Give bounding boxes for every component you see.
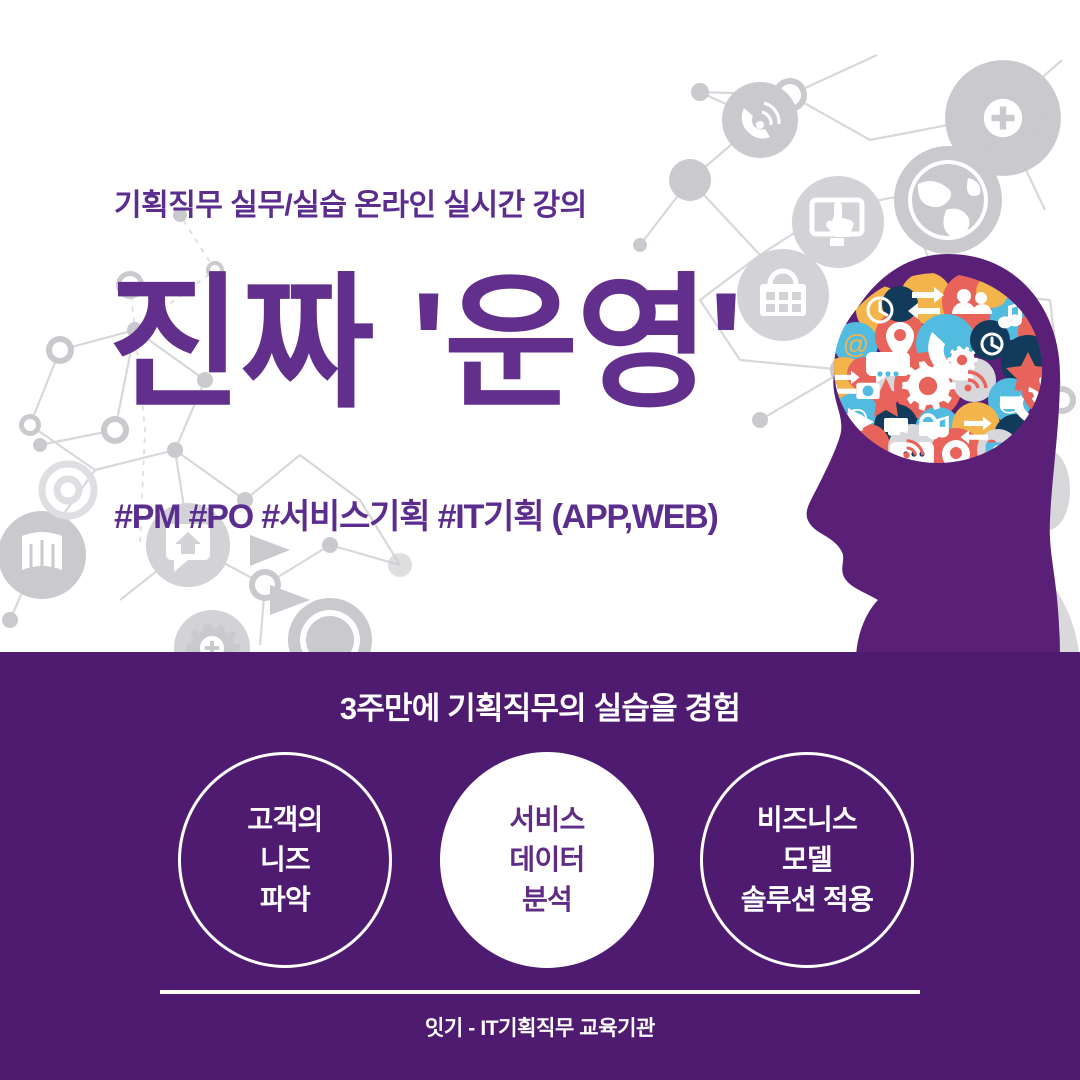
benefit-circle-2-line-1: 서비스 [509, 800, 584, 840]
benefit-circle-1: 고객의 니즈 파악 [178, 752, 392, 968]
bg-icon-phone-wifi [722, 82, 798, 158]
bg-icon-globe [894, 146, 1002, 254]
bg-icon-gear-small [174, 610, 250, 652]
band-title: 3주만에 기획직무의 실습을 경험 [0, 683, 1080, 728]
benefit-circle-1-line-2: 니즈 [260, 840, 310, 880]
hero-panel: @ @ @ [0, 0, 1080, 652]
footer-divider [160, 990, 920, 994]
bg-icon-book [0, 511, 86, 599]
benefits-band: 3주만에 기획직무의 실습을 경험 고객의 니즈 파악 서비스 데이터 분석 비… [0, 652, 1080, 1080]
benefit-circle-2-line-2: 데이터 [509, 840, 584, 880]
page-title: 진짜 '운영' [108, 262, 868, 426]
benefit-circle-2: 서비스 데이터 분석 [440, 752, 654, 968]
footer-brand: 잇기 - IT기획직무 교육기관 [0, 1012, 1080, 1042]
eyebrow-text: 기획직무 실무/실습 온라인 실시간 강의 [114, 180, 814, 224]
benefit-circle-1-line-3: 파악 [260, 880, 310, 920]
benefit-circle-3-line-1: 비즈니스 [757, 800, 857, 840]
benefit-circle-2-line-3: 분석 [522, 880, 572, 920]
hashtag-tagline: #PM #PO #서비스기획 #IT기획 (APP,WEB) [114, 489, 874, 538]
benefit-circle-3: 비즈니스 모델 솔루션 적용 [700, 752, 914, 968]
promo-poster: @ @ @ [0, 0, 1080, 1080]
benefit-circle-3-line-2: 모델 [782, 840, 832, 880]
benefit-circle-3-line-3: 솔루션 적용 [741, 880, 873, 920]
benefit-circle-1-line-1: 고객의 [247, 800, 322, 840]
bg-icon-location-pin [288, 598, 372, 652]
